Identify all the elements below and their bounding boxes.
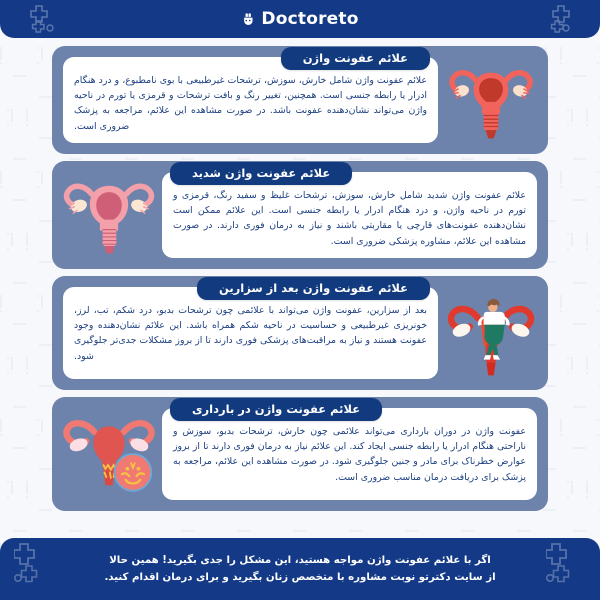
- card-body: علائم عفونت واژن در بارداری عفونت واژن د…: [162, 408, 537, 500]
- card-title: علائم عفونت واژن شدید: [170, 162, 352, 185]
- card-illustration: [445, 287, 537, 379]
- doctoreto-mark-icon: [241, 12, 256, 27]
- medical-cross-cluster-icon: [546, 542, 586, 588]
- symptom-card: علائم عفونت واژن شدید علائم عفونت واژن ش…: [52, 161, 548, 269]
- card-illustration: [445, 57, 537, 143]
- card-title: علائم عفونت واژن در بارداری: [170, 398, 382, 421]
- header-cross-decoration-left: [28, 4, 72, 38]
- footer-cross-decoration-right: [546, 542, 586, 592]
- page-footer: اگر با علائم عفونت واژن مواجه هستید، این…: [0, 538, 600, 600]
- footer-cross-decoration-left: [14, 542, 54, 592]
- medical-cross-cluster-icon: [28, 4, 72, 34]
- infographic-page: Doctoreto علائم عفونت واژن علائم عفونت و…: [0, 0, 600, 600]
- symptom-card: علائم عفونت واژن علائم عفونت واژن شامل خ…: [52, 46, 548, 154]
- card-body: علائم عفونت واژن بعد از سزارین بعد از سز…: [63, 287, 438, 379]
- symptom-card-list: علائم عفونت واژن علائم عفونت واژن شامل خ…: [0, 46, 600, 518]
- card-body: علائم عفونت واژن شدید علائم عفونت واژن ش…: [162, 172, 537, 258]
- medical-cross-cluster-icon: [14, 542, 54, 588]
- brand-name: Doctoreto: [261, 9, 358, 29]
- card-body: علائم عفونت واژن علائم عفونت واژن شامل خ…: [63, 57, 438, 143]
- card-text: عفونت واژن در دوران بارداری می‌تواند علا…: [173, 424, 526, 485]
- uterus-red-icon: [445, 58, 537, 142]
- card-title: علائم عفونت واژن: [281, 47, 430, 70]
- uterus-magnified-infection-icon: [63, 408, 155, 500]
- page-header: Doctoreto: [0, 0, 600, 38]
- symptom-card: علائم عفونت واژن در بارداری عفونت واژن د…: [52, 397, 548, 511]
- uterus-pink-icon: [63, 173, 155, 257]
- footer-cta-text: اگر با علائم عفونت واژن مواجه هستید، این…: [104, 552, 496, 587]
- medical-cross-cluster-icon: [528, 4, 572, 34]
- symptom-card: علائم عفونت واژن بعد از سزارین بعد از سز…: [52, 276, 548, 390]
- card-text: علائم عفونت واژن شدید شامل خارش، سوزش، ت…: [173, 188, 526, 249]
- brand-logo: Doctoreto: [241, 9, 358, 29]
- card-illustration: [63, 408, 155, 500]
- uterus-with-woman-icon: [445, 287, 537, 379]
- card-illustration: [63, 172, 155, 258]
- header-cross-decoration-right: [528, 4, 572, 38]
- card-text: بعد از سزارین، عفونت واژن می‌تواند با عل…: [74, 303, 427, 364]
- card-text: علائم عفونت واژن شامل خارش، سوزش، ترشحات…: [74, 73, 427, 134]
- card-title: علائم عفونت واژن بعد از سزارین: [197, 277, 430, 300]
